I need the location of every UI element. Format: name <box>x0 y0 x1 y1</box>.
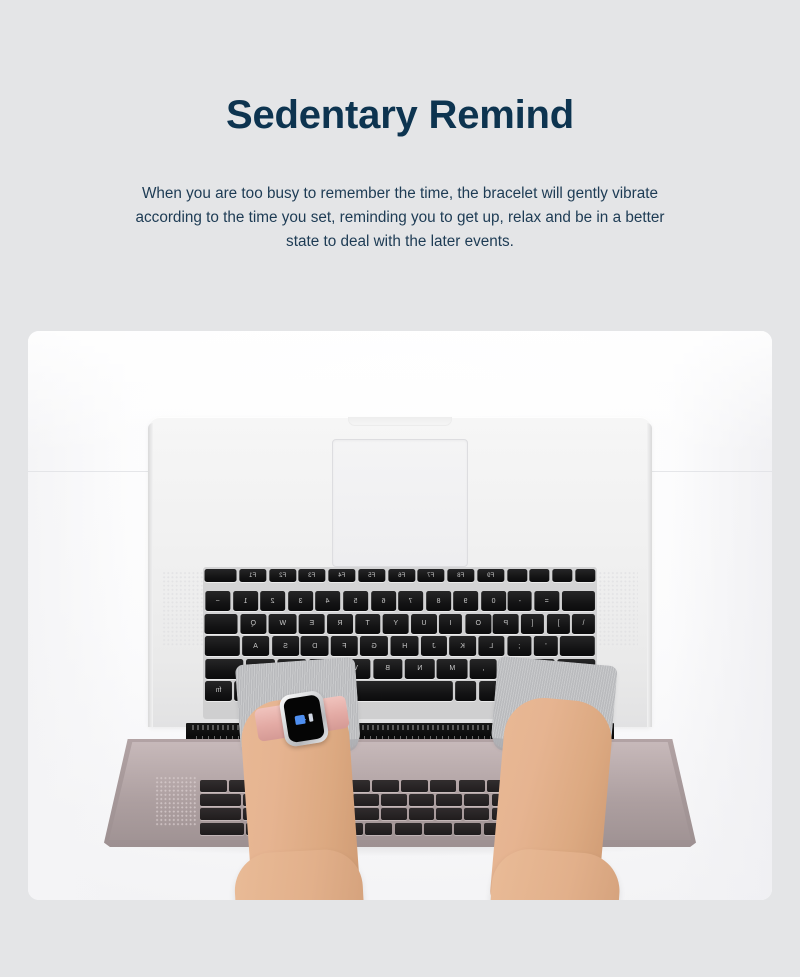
keyboard-key: E <box>299 614 325 634</box>
reflection-key <box>381 808 406 820</box>
keyboard-key <box>205 636 240 656</box>
reflection-key <box>401 780 428 792</box>
laptop-speaker-right <box>594 571 638 647</box>
keyboard-key: ; <box>507 636 531 656</box>
keyboard-key: S <box>272 636 299 656</box>
keyboard-key <box>552 569 572 582</box>
keyboard-key: 0 <box>481 591 506 611</box>
reflection-key <box>381 794 406 806</box>
reflection-key <box>424 823 451 835</box>
keyboard-key: P <box>493 614 519 634</box>
keyboard-key: H <box>391 636 419 656</box>
reflection-key <box>454 823 481 835</box>
reflection-key <box>409 808 434 820</box>
keyboard-key: ] <box>547 614 570 634</box>
keyboard-key: T <box>355 614 380 634</box>
keyboard-key: F4 <box>328 569 355 582</box>
watch-case <box>278 690 330 748</box>
keyboard-key: L <box>478 636 504 656</box>
keyboard-key: fn <box>205 681 232 701</box>
reflection-key <box>459 780 486 792</box>
keyboard-key: 7 <box>398 591 423 611</box>
keyboard-key <box>205 569 237 582</box>
keyboard-key: F1 <box>239 569 266 582</box>
keyboard-key: 5 <box>343 591 368 611</box>
reflection-speaker-grille <box>155 776 197 826</box>
keyboard-key: \ <box>572 614 595 634</box>
keyboard-row: F1F2F3F4F5F6F7F8F9 <box>205 569 595 589</box>
reflection-key <box>464 794 489 806</box>
keyboard-key: F5 <box>358 569 385 582</box>
keyboard-key: D <box>301 636 329 656</box>
keyboard-key: R <box>327 614 353 634</box>
keyboard-key: ~ <box>205 591 230 611</box>
reflection-key <box>200 823 244 835</box>
keyboard-key <box>575 569 595 582</box>
keyboard-key <box>205 614 238 634</box>
keyboard-row: QWERTYUIOP[]\ <box>205 614 595 634</box>
keyboard-key: I <box>439 614 462 634</box>
keyboard-key: F3 <box>298 569 325 582</box>
reflection-key <box>395 823 422 835</box>
page-description: When you are too busy to remember the ti… <box>126 182 674 254</box>
keyboard-key: 8 <box>426 591 451 611</box>
reflection-key <box>353 808 378 820</box>
keyboard-key: 2 <box>260 591 285 611</box>
keyboard-key: 6 <box>371 591 396 611</box>
keyboard-key: K <box>449 636 476 656</box>
reflection-key <box>436 808 461 820</box>
keyboard-key: A <box>242 636 269 656</box>
keyboard-key: O <box>465 614 491 634</box>
reflection-key <box>200 808 241 820</box>
reflection-key <box>372 780 399 792</box>
keyboard-key <box>560 636 595 656</box>
keyboard-key: = <box>534 591 559 611</box>
watch-battery-icon <box>308 713 313 722</box>
keyboard-key: 4 <box>315 591 340 611</box>
keyboard-key: Y <box>383 614 409 634</box>
keyboard-key: W <box>269 614 297 634</box>
keyboard-key: - <box>508 591 532 611</box>
keyboard-key: B <box>373 659 402 679</box>
reflection-key <box>436 794 461 806</box>
keyboard-key: G <box>360 636 388 656</box>
keyboard-key <box>507 569 527 582</box>
keyboard-key: N <box>405 659 435 679</box>
keyboard-row: ASDFGHJKL;' <box>205 636 595 656</box>
keyboard-key: , <box>470 659 497 679</box>
hero-image-card: F1F2F3F4F5F6F7F8F9~1234567890-=QWERTYUIO… <box>28 331 772 900</box>
reflection-key <box>353 794 378 806</box>
laptop-speaker-left <box>162 571 206 647</box>
laptop-lid-notch <box>348 417 452 426</box>
keyboard-key <box>455 681 476 701</box>
keyboard-key <box>562 591 595 611</box>
page-title: Sedentary Remind <box>0 92 800 138</box>
keyboard-key: J <box>421 636 447 656</box>
reflection-key <box>409 794 434 806</box>
keyboard-key: F2 <box>269 569 296 582</box>
page-header: Sedentary Remind When you are too busy t… <box>0 0 800 254</box>
reflection-key <box>430 780 457 792</box>
reflection-key <box>464 808 489 820</box>
reflection-key <box>365 823 392 835</box>
keyboard-key <box>529 569 549 582</box>
keyboard-key: 9 <box>453 591 478 611</box>
keyboard-key: F <box>331 636 358 656</box>
keyboard-key: M <box>437 659 468 679</box>
reflection-key <box>200 780 227 792</box>
keyboard-key: F6 <box>388 569 415 582</box>
keyboard-key: 3 <box>288 591 313 611</box>
keyboard-key: [ <box>521 614 544 634</box>
laptop-trackpad <box>332 439 468 567</box>
keyboard-key: F9 <box>477 569 504 582</box>
keyboard-key: U <box>411 614 437 634</box>
keyboard-key: 1 <box>233 591 258 611</box>
keyboard-key: F8 <box>447 569 474 582</box>
watch-notification-icon <box>294 714 305 724</box>
keyboard-key: ' <box>534 636 558 656</box>
keyboard-row: ~1234567890-= <box>205 591 595 611</box>
watch-screen <box>283 694 325 743</box>
reflection-key <box>200 794 241 806</box>
keyboard-key: Q <box>240 614 266 634</box>
keyboard-key: F7 <box>417 569 444 582</box>
